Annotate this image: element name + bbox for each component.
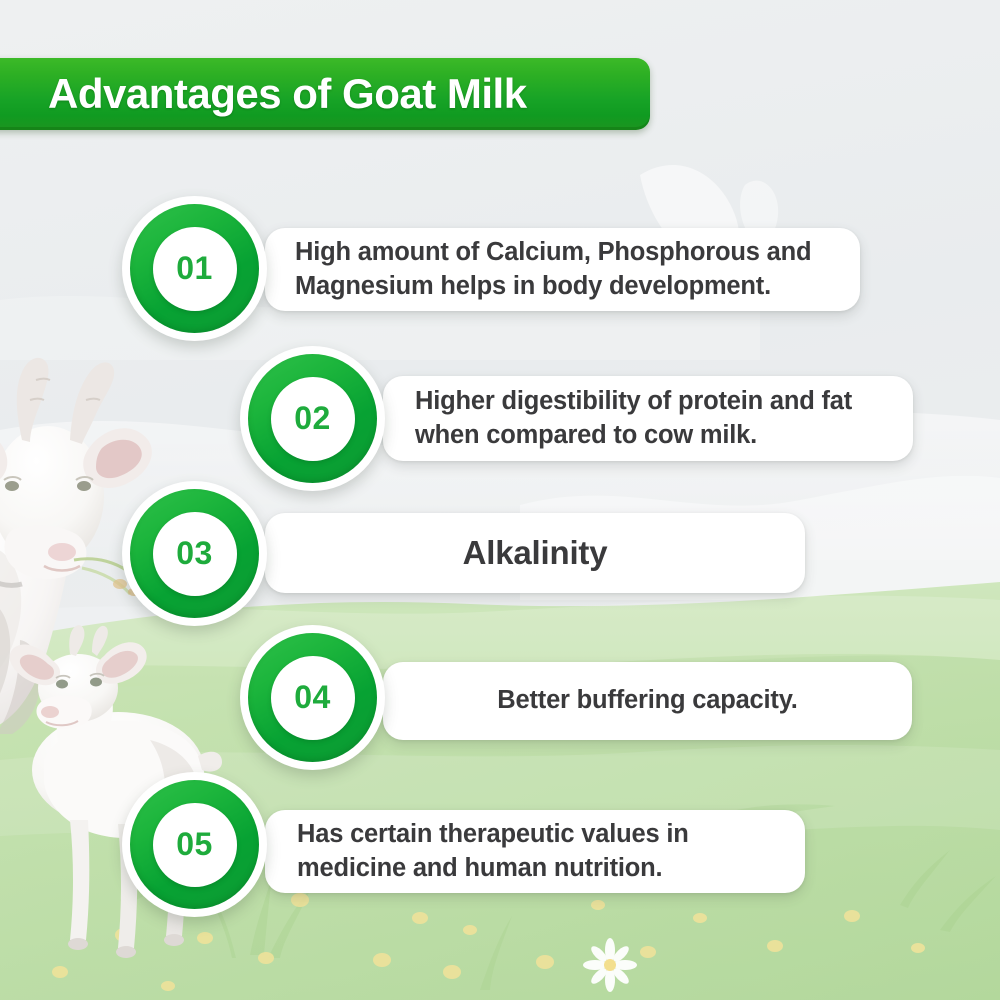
list-item-badge-5[interactable]: 05 <box>122 772 267 917</box>
badge-number-2: 02 <box>294 400 331 437</box>
list-item-text-5: Has certain therapeutic values in medici… <box>297 818 783 884</box>
badge-ring-3: 03 <box>130 489 259 618</box>
badge-inner-5: 05 <box>153 803 237 887</box>
badge-number-4: 04 <box>294 679 331 716</box>
badge-inner-4: 04 <box>271 656 355 740</box>
list-item-card-1[interactable]: High amount of Calcium, Phosphorous and … <box>265 228 860 311</box>
badge-number-5: 05 <box>176 826 213 863</box>
list-item-card-3[interactable]: Alkalinity <box>265 513 805 593</box>
list-item-badge-1[interactable]: 01 <box>122 196 267 341</box>
advantages-list: High amount of Calcium, Phosphorous and … <box>0 0 1000 1000</box>
infographic-canvas: Advantages of Goat Milk High amount of C… <box>0 0 1000 1000</box>
badge-inner-2: 02 <box>271 377 355 461</box>
badge-number-3: 03 <box>176 535 213 572</box>
badge-ring-5: 05 <box>130 780 259 909</box>
list-item-card-5[interactable]: Has certain therapeutic values in medici… <box>265 810 805 893</box>
badge-inner-3: 03 <box>153 512 237 596</box>
badge-ring-1: 01 <box>130 204 259 333</box>
list-item-badge-4[interactable]: 04 <box>240 625 385 770</box>
list-item-badge-2[interactable]: 02 <box>240 346 385 491</box>
badge-number-1: 01 <box>176 250 213 287</box>
badge-inner-1: 01 <box>153 227 237 311</box>
list-item-text-1: High amount of Calcium, Phosphorous and … <box>295 236 838 302</box>
list-item-card-2[interactable]: Higher digestibility of protein and fat … <box>383 376 913 461</box>
badge-ring-4: 04 <box>248 633 377 762</box>
list-item-text-2: Higher digestibility of protein and fat … <box>415 385 891 451</box>
list-item-text-3: Alkalinity <box>463 532 608 575</box>
list-item-card-4[interactable]: Better buffering capacity. <box>383 662 912 740</box>
badge-ring-2: 02 <box>248 354 377 483</box>
list-item-text-4: Better buffering capacity. <box>497 684 797 717</box>
list-item-badge-3[interactable]: 03 <box>122 481 267 626</box>
